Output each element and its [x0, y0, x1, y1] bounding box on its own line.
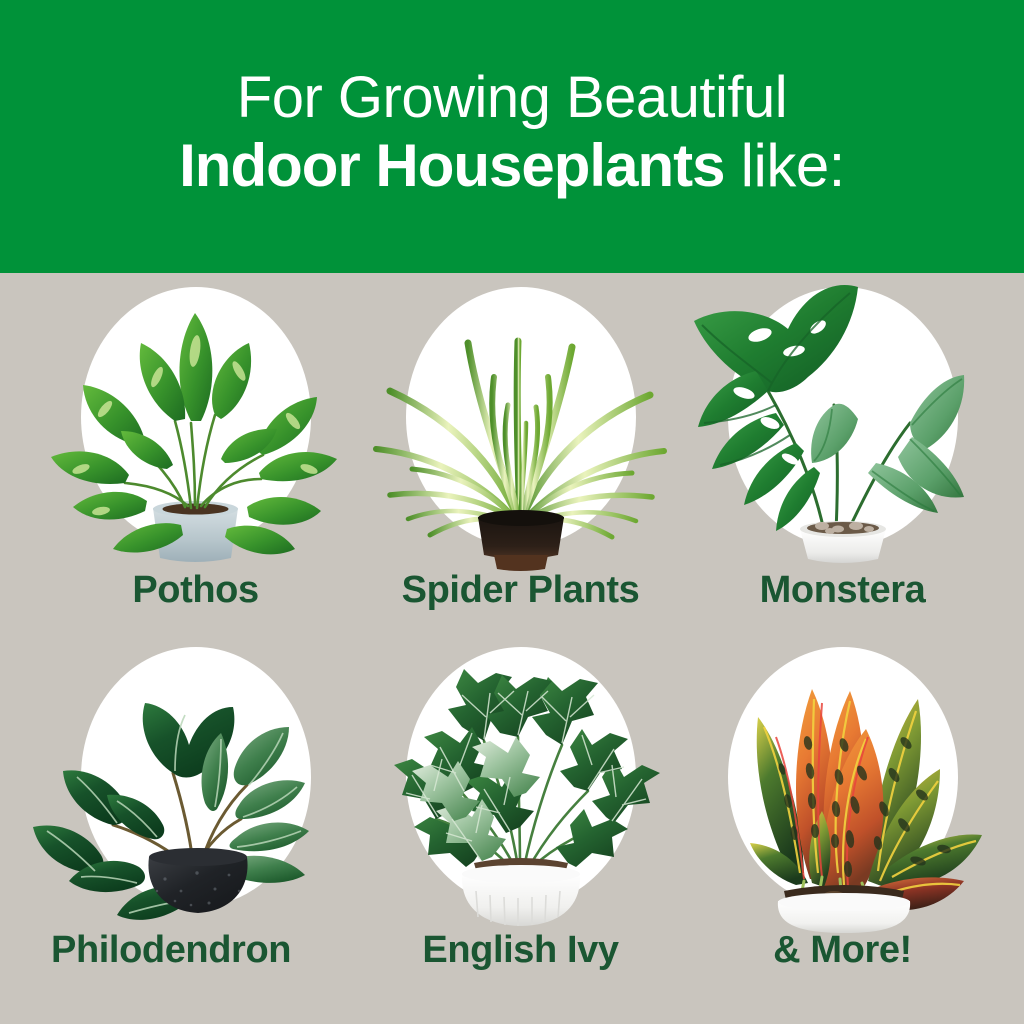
- plant-label-more: & More!: [672, 929, 1013, 972]
- plant-image-spider-plants: [350, 273, 691, 573]
- header-banner: For Growing Beautiful Indoor Houseplants…: [0, 0, 1024, 273]
- plant-image-pothos: [25, 273, 366, 573]
- plant-card-spider-plants[interactable]: Spider Plants: [350, 273, 691, 648]
- plant-image-philodendron: [25, 633, 366, 933]
- english-ivy-plant-photo: [350, 633, 691, 933]
- headline-line-1: For Growing Beautiful: [237, 68, 787, 129]
- spider-plant-photo: [350, 273, 691, 573]
- plant-card-philodendron[interactable]: Philodendron: [25, 633, 366, 1008]
- plant-label-philodendron: Philodendron: [25, 929, 366, 972]
- poster-root: For Growing Beautiful Indoor Houseplants…: [0, 0, 1024, 1024]
- headline-line-2: Indoor Houseplants like:: [179, 134, 845, 197]
- plant-label-monstera: Monstera: [672, 569, 1013, 612]
- headline-suffix: like:: [724, 132, 844, 199]
- plant-label-spider-plants: Spider Plants: [350, 569, 691, 612]
- croton-plant-photo: [672, 633, 1013, 933]
- plant-card-pothos[interactable]: Pothos: [25, 273, 366, 648]
- plant-image-english-ivy: [350, 633, 691, 933]
- pothos-plant-photo: [25, 273, 366, 573]
- plant-card-more[interactable]: & More!: [672, 633, 1013, 1008]
- plant-grid: Pothos: [0, 273, 1024, 1024]
- plant-card-monstera[interactable]: Monstera: [672, 273, 1013, 648]
- monstera-plant-photo: [672, 273, 1013, 573]
- headline-emphasis: Indoor Houseplants: [179, 132, 724, 199]
- plant-label-pothos: Pothos: [25, 569, 366, 612]
- plant-image-more: [672, 633, 1013, 933]
- philodendron-plant-photo: [25, 633, 366, 933]
- plant-card-english-ivy[interactable]: English Ivy: [350, 633, 691, 1008]
- plant-label-english-ivy: English Ivy: [350, 929, 691, 972]
- plant-image-monstera: [672, 273, 1013, 573]
